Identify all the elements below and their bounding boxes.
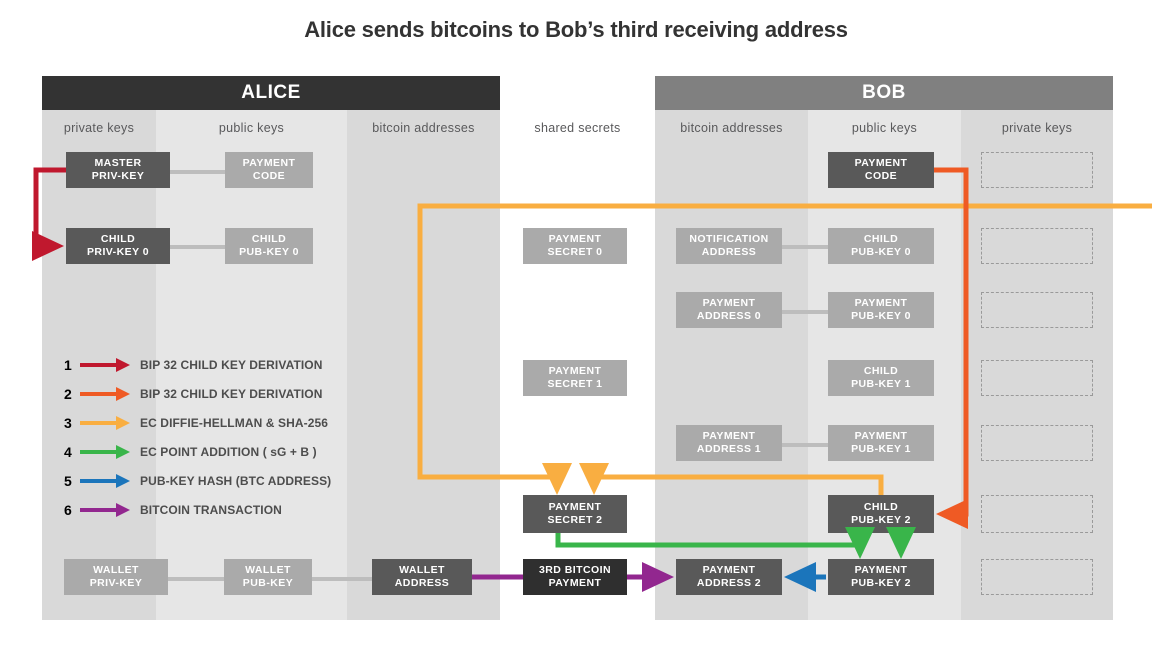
column-label-alice-addresses: bitcoin addresses [347,117,500,139]
legend-row-3: 3 EC DIFFIE-HELLMAN & SHA-256 [64,408,331,437]
legend-row-4: 4 EC POINT ADDITION ( sG + B ) [64,437,331,466]
box-alice-payment-code[interactable]: PAYMENT CODE [225,152,313,188]
band-bob-addresses [655,110,808,620]
box-bob-payment-address-2[interactable]: PAYMENT ADDRESS 2 [676,559,782,595]
box-bob-child-pub-key-0[interactable]: CHILD PUB-KEY 0 [828,228,934,264]
box-bob-payment-pub-key-0[interactable]: PAYMENT PUB-KEY 0 [828,292,934,328]
box-line-2: PUB-KEY 0 [239,246,299,259]
page-title: Alice sends bitcoins to Bob’s third rece… [0,17,1152,43]
box-line-2: PRIV-KEY 0 [87,246,149,259]
box-bob-hidden-priv-key-7 [981,559,1093,595]
legend-arrow-icon [80,387,132,401]
box-line-2: CODE [865,170,897,183]
legend-label: BIP 32 CHILD KEY DERIVATION [140,387,323,401]
box-third-bitcoin-payment[interactable]: 3RD BITCOIN PAYMENT [523,559,627,595]
legend-number: 1 [64,357,80,373]
box-payment-secret-1[interactable]: PAYMENT SECRET 1 [523,360,627,396]
box-line-1: PAYMENT [855,297,908,310]
box-bob-payment-address-1[interactable]: PAYMENT ADDRESS 1 [676,425,782,461]
box-alice-master-priv-key[interactable]: MASTER PRIV-KEY [66,152,170,188]
box-line-2: PUB-KEY [243,577,293,590]
box-line-1: WALLET [93,564,139,577]
box-bob-child-pub-key-2[interactable]: CHILD PUB-KEY 2 [828,495,934,533]
box-line-1: PAYMENT [703,297,756,310]
legend-row-5: 5 PUB-KEY HASH (BTC ADDRESS) [64,466,331,495]
box-line-1: MASTER [94,157,141,170]
box-bob-hidden-priv-key-3 [981,292,1093,328]
box-line-1: PAYMENT [703,564,756,577]
box-line-1: WALLET [399,564,445,577]
legend-arrow-icon [80,503,132,517]
box-bob-notification-address[interactable]: NOTIFICATION ADDRESS [676,228,782,264]
box-line-2: SECRET 0 [548,246,603,259]
diagram-canvas: Alice sends bitcoins to Bob’s third rece… [0,0,1152,649]
box-bob-hidden-priv-key-1 [981,152,1093,188]
box-alice-wallet-address[interactable]: WALLET ADDRESS [372,559,472,595]
box-bob-payment-code[interactable]: PAYMENT CODE [828,152,934,188]
box-alice-wallet-priv-key[interactable]: WALLET PRIV-KEY [64,559,168,595]
box-line-1: PAYMENT [243,157,296,170]
legend-row-6: 6 BITCOIN TRANSACTION [64,495,331,524]
box-line-1: 3RD BITCOIN [539,564,611,577]
legend-number: 4 [64,444,80,460]
box-line-2: CODE [253,170,285,183]
legend-arrow-icon [80,416,132,430]
box-line-1: NOTIFICATION [689,233,768,246]
box-line-1: CHILD [864,233,898,246]
box-line-2: ADDRESS 0 [697,310,761,323]
legend-label: BIP 32 CHILD KEY DERIVATION [140,358,323,372]
legend-row-2: 2 BIP 32 CHILD KEY DERIVATION [64,379,331,408]
box-alice-wallet-pub-key[interactable]: WALLET PUB-KEY [224,559,312,595]
box-line-1: CHILD [864,501,898,514]
box-line-1: CHILD [101,233,135,246]
legend-label: PUB-KEY HASH (BTC ADDRESS) [140,474,331,488]
legend: 1 BIP 32 CHILD KEY DERIVATION 2 BIP 32 C… [64,350,331,524]
box-payment-secret-0[interactable]: PAYMENT SECRET 0 [523,228,627,264]
box-bob-hidden-priv-key-2 [981,228,1093,264]
box-alice-child-pub-key-0[interactable]: CHILD PUB-KEY 0 [225,228,313,264]
link-bob-addr0-to-pub0 [778,310,834,314]
box-line-2: SECRET 1 [548,378,603,391]
column-label-alice-private: private keys [42,117,156,139]
link-wallet-pub-to-address [312,577,378,581]
box-line-2: PUB-KEY 0 [851,310,911,323]
legend-label: EC POINT ADDITION ( sG + B ) [140,445,317,459]
legend-number: 2 [64,386,80,402]
box-line-1: CHILD [252,233,286,246]
legend-number: 6 [64,502,80,518]
box-line-2: PUB-KEY 2 [851,577,911,590]
band-alice-addresses [347,110,500,620]
box-line-2: ADDRESS [395,577,450,590]
box-bob-payment-pub-key-2[interactable]: PAYMENT PUB-KEY 2 [828,559,934,595]
box-line-2: ADDRESS 1 [697,443,761,456]
box-bob-hidden-priv-key-5 [981,425,1093,461]
box-line-1: PAYMENT [549,233,602,246]
legend-label: EC DIFFIE-HELLMAN & SHA-256 [140,416,328,430]
link-alice-master-to-code [168,170,228,174]
box-line-1: PAYMENT [855,564,908,577]
box-line-2: PUB-KEY 1 [851,378,911,391]
box-bob-hidden-priv-key-4 [981,360,1093,396]
box-line-2: PRIV-KEY [90,577,143,590]
box-line-2: PAYMENT [549,577,602,590]
box-line-1: PAYMENT [549,501,602,514]
box-line-1: PAYMENT [855,430,908,443]
box-bob-payment-address-0[interactable]: PAYMENT ADDRESS 0 [676,292,782,328]
legend-arrow-icon [80,474,132,488]
party-header-alice: ALICE [42,76,500,110]
box-line-2: PRIV-KEY [92,170,145,183]
box-payment-secret-2[interactable]: PAYMENT SECRET 2 [523,495,627,533]
link-bob-notif-to-childpub0 [778,245,834,249]
legend-arrow-icon [80,445,132,459]
legend-number: 3 [64,415,80,431]
legend-row-1: 1 BIP 32 CHILD KEY DERIVATION [64,350,331,379]
box-bob-hidden-priv-key-6 [981,495,1093,533]
column-label-bob-addresses: bitcoin addresses [655,117,808,139]
link-alice-child-priv-to-pub [168,245,228,249]
box-line-1: PAYMENT [703,430,756,443]
box-line-2: ADDRESS [702,246,757,259]
link-bob-addr1-to-pub1 [778,443,834,447]
box-line-2: PUB-KEY 1 [851,443,911,456]
column-label-alice-public: public keys [156,117,347,139]
box-line-1: PAYMENT [855,157,908,170]
box-line-2: ADDRESS 2 [697,577,761,590]
box-bob-payment-pub-key-1[interactable]: PAYMENT PUB-KEY 1 [828,425,934,461]
party-header-bob: BOB [655,76,1113,110]
box-bob-child-pub-key-1[interactable]: CHILD PUB-KEY 1 [828,360,934,396]
legend-label: BITCOIN TRANSACTION [140,503,282,517]
box-alice-child-priv-key-0[interactable]: CHILD PRIV-KEY 0 [66,228,170,264]
box-line-1: PAYMENT [549,365,602,378]
box-line-2: PUB-KEY 2 [851,514,911,527]
box-line-1: WALLET [245,564,291,577]
column-label-shared-secrets: shared secrets [500,117,655,139]
box-line-2: PUB-KEY 0 [851,246,911,259]
column-label-bob-private: private keys [961,117,1113,139]
legend-arrow-icon [80,358,132,372]
column-label-bob-public: public keys [808,117,961,139]
box-line-1: CHILD [864,365,898,378]
box-line-2: SECRET 2 [548,514,603,527]
legend-number: 5 [64,473,80,489]
